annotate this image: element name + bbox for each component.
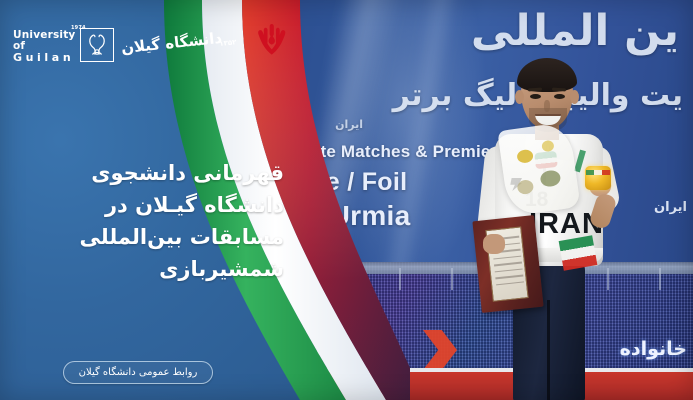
athlete-left-hand (483, 234, 505, 254)
bouquet-flower (516, 179, 534, 195)
athlete-hair (517, 58, 577, 92)
athlete-figure: 18 IRAN (473, 42, 633, 400)
logo-persian-text: دانشگاه گیلان (121, 28, 224, 56)
bouquet-flower (539, 169, 561, 188)
logo-line-guilan: Guilan (13, 52, 74, 64)
bouquet-flower (516, 149, 534, 164)
bouquet-flower (541, 140, 554, 153)
logo-persian-name: دانشگاه گیلان ۱۳۵۲ (121, 30, 223, 55)
athlete-leg-seam (547, 300, 550, 400)
medal-flag-stripe (586, 170, 610, 175)
headline-text: قهرمانی دانشجوی دانشگاه گیـلان در مسابقا… (30, 158, 300, 286)
public-relations-badge[interactable]: روابط عمومی دانشگاه گیلان (63, 361, 213, 384)
logo-year-persian: ۱۳۵۲ (220, 39, 238, 48)
logo-line-university-of: University of (13, 30, 75, 52)
university-emblem-icon (80, 28, 114, 62)
public-relations-label: روابط عمومی دانشگاه گیلان (79, 367, 198, 378)
athlete-ear-right (570, 90, 579, 104)
backdrop-persian-small: ایران (335, 118, 363, 131)
news-banner: ین المللی یت والیبال لیگ برتر ایران Sate… (0, 0, 693, 400)
athlete-photo: ین المللی یت والیبال لیگ برتر ایران Sate… (255, 0, 693, 400)
backdrop-persian-right: ایران (654, 200, 687, 215)
award-plaque (472, 215, 543, 313)
logo-english-name: 1974 University of Guilan (13, 27, 75, 64)
university-logo[interactable]: 1974 University of Guilan دانشگاه گیلان … (13, 22, 213, 68)
athlete-eye-left (530, 94, 541, 99)
athlete-nose (544, 100, 550, 112)
athlete-ear-left (515, 90, 524, 104)
athlete-eye-right (554, 94, 565, 99)
iran-flag-sash (559, 235, 598, 270)
